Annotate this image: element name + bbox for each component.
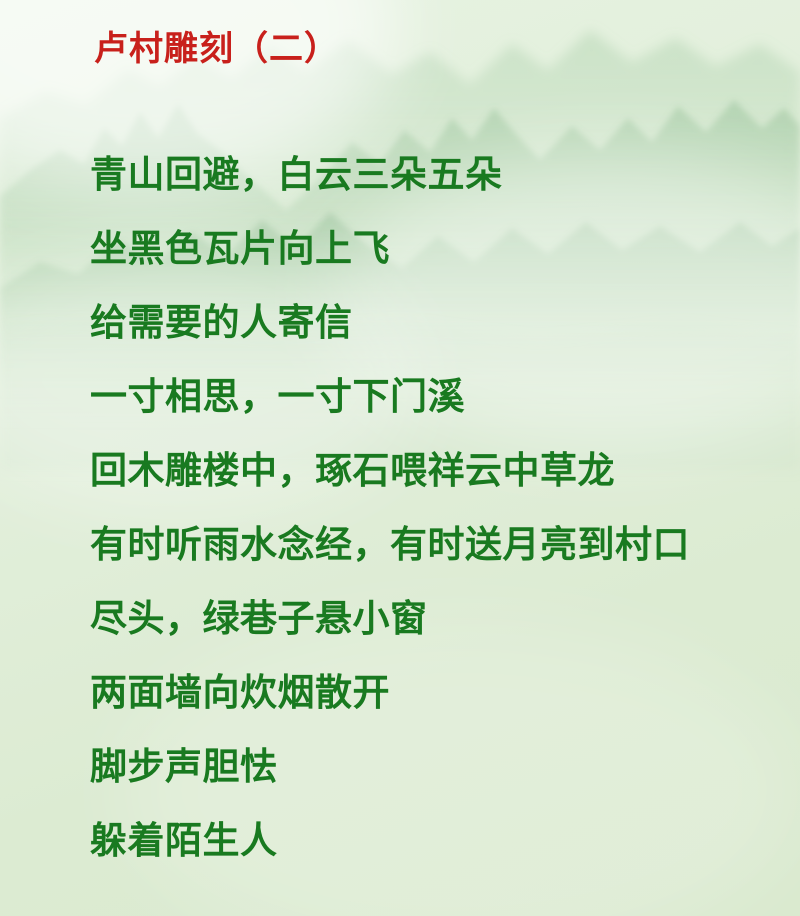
page-title: 卢村雕刻（二） (94, 30, 339, 69)
poem-line: 给需要的人寄信 (90, 300, 790, 374)
poem-line: 躲着陌生人 (90, 818, 790, 892)
poem-line: 脚步声胆怯 (90, 744, 790, 818)
poem-page: 卢村雕刻（二） 青山回避，白云三朵五朵 坐黑色瓦片向上飞 给需要的人寄信 一寸相… (0, 0, 800, 916)
poem-line: 两面墙向炊烟散开 (90, 670, 790, 744)
poem-line: 回木雕楼中，琢石喂祥云中草龙 (90, 448, 790, 522)
poem-content: 卢村雕刻（二） 青山回避，白云三朵五朵 坐黑色瓦片向上飞 给需要的人寄信 一寸相… (0, 0, 800, 916)
poem-line: 尽头，绿巷子悬小窗 (90, 596, 790, 670)
poem-body: 青山回避，白云三朵五朵 坐黑色瓦片向上飞 给需要的人寄信 一寸相思，一寸下门溪 … (90, 152, 790, 892)
poem-line: 一寸相思，一寸下门溪 (90, 374, 790, 448)
poem-line: 青山回避，白云三朵五朵 (90, 152, 790, 226)
poem-line: 有时听雨水念经，有时送月亮到村口 (90, 522, 790, 596)
poem-line: 坐黑色瓦片向上飞 (90, 226, 790, 300)
